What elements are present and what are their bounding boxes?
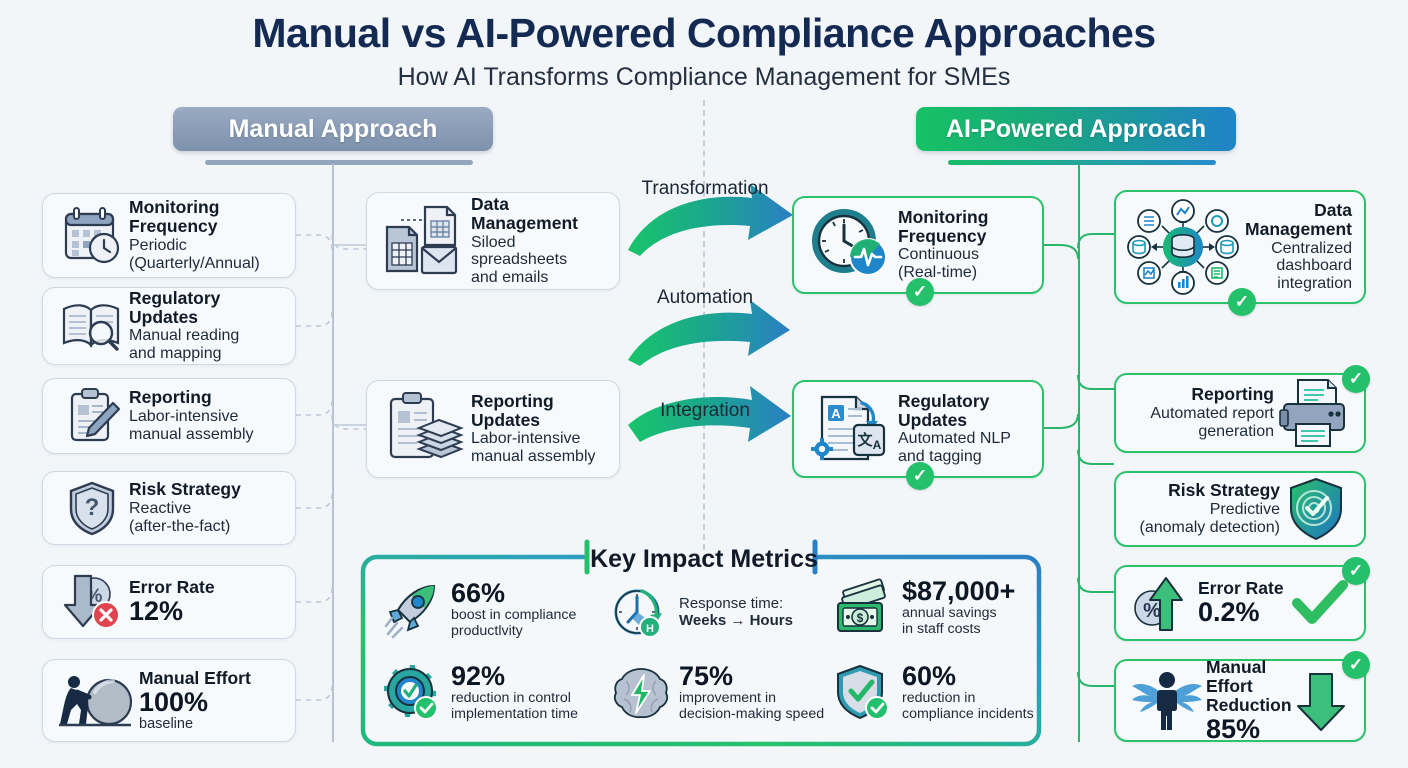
metric-label-top: Response time:	[679, 595, 793, 612]
document-translate-gear-icon: A 文 A	[806, 389, 898, 469]
metric-value: 60%	[902, 663, 1034, 690]
ai-card-manual-effort-reduction[interactable]: Manual Effort Reduction 85% ✓	[1114, 659, 1366, 742]
check-badge-icon: ✓	[906, 278, 934, 306]
up-arrow-percent-icon: %	[1128, 572, 1198, 634]
metric-compliance-incidents: 60% reduction in compliance incidents	[833, 663, 1048, 723]
metric-annual-savings: $ $87,000+ annual savings in staff costs	[833, 578, 1048, 638]
ai-card-error-rate[interactable]: % Error Rate 0.2% ✓	[1114, 565, 1366, 641]
ai-card-reporting[interactable]: Reporting Automated report generation ✓	[1114, 373, 1366, 453]
card-desc: Periodic (Quarterly/Annual)	[129, 237, 283, 273]
clipboard-pen-icon	[55, 387, 129, 445]
card-title: Regulatory Updates	[129, 289, 283, 327]
down-arrow-green-icon	[1290, 670, 1352, 732]
flow-label-automation: Automation	[630, 287, 780, 309]
banner-manual-approach: Manual Approach	[173, 107, 493, 151]
ai-mid-card-monitoring-frequency[interactable]: Monitoring Frequency Continuous (Real-ti…	[792, 196, 1044, 294]
spreadsheet-email-silo-icon	[379, 201, 471, 281]
shield-question-icon: ?	[55, 479, 129, 537]
check-badge-icon: ✓	[1228, 288, 1256, 316]
card-desc: Automated NLP and tagging	[898, 430, 1030, 466]
card-title: Data Management	[471, 195, 607, 233]
svg-text:?: ?	[85, 494, 100, 521]
manual-underline	[205, 160, 473, 165]
clock-pulse-icon	[806, 205, 898, 285]
printer-report-icon	[1274, 378, 1352, 448]
manual-card-reporting[interactable]: Reporting Labor-intensive manual assembl…	[42, 378, 296, 454]
metric-label: reduction in control implementation time	[451, 690, 578, 723]
page-subtitle: How AI Transforms Compliance Management …	[0, 63, 1408, 92]
card-title: Data Management	[1238, 201, 1352, 239]
page-title: Manual vs AI-Powered Compliance Approach…	[0, 10, 1408, 57]
shield-radar-icon	[1280, 476, 1352, 542]
flow-label-transformation: Transformation	[630, 178, 780, 200]
ai-mid-card-regulatory-updates[interactable]: A 文 A Regulatory Updates Automated NLP a…	[792, 380, 1044, 478]
metric-value: 75%	[679, 663, 824, 690]
check-badge-icon: ✓	[1342, 365, 1370, 393]
card-title: Reporting Updates	[471, 392, 607, 430]
card-value: 0.2%	[1198, 598, 1288, 626]
card-note: baseline	[139, 716, 283, 732]
card-desc: Reactive (after-the-fact)	[129, 500, 283, 536]
metric-control-implementation: 92% reduction in control implementation …	[382, 663, 597, 723]
card-desc: Centralized dashboard integration	[1238, 240, 1352, 294]
winged-person-icon	[1128, 668, 1206, 734]
shield-check-icon	[833, 664, 895, 722]
manual-card-manual-effort[interactable]: Manual Effort 100% baseline	[42, 659, 296, 742]
card-desc: Labor-intensive manual assembly	[471, 430, 607, 466]
manual-card-monitoring-frequency[interactable]: Monitoring Frequency Periodic (Quarterly…	[42, 193, 296, 278]
card-desc: Manual reading and mapping	[129, 327, 283, 363]
metric-response-time: H Response time: Weeks → Hours	[610, 585, 825, 639]
center-dashed-divider	[703, 100, 705, 550]
card-title: Risk Strategy	[1128, 481, 1280, 500]
metric-label: improvement in decision-making speed	[679, 690, 824, 723]
svg-text:A: A	[831, 406, 841, 421]
card-desc: Predictive (anomaly detection)	[1128, 501, 1280, 537]
card-desc: Automated report generation	[1128, 405, 1274, 441]
card-desc: Labor-intensive manual assembly	[129, 408, 283, 444]
banner-ai-approach: AI-Powered Approach	[916, 107, 1236, 151]
svg-text:%: %	[1143, 600, 1161, 622]
ai-card-data-management[interactable]: Data Management Centralized dashboard in…	[1114, 190, 1366, 304]
card-value: 100%	[139, 688, 283, 716]
manual-card-risk-strategy[interactable]: ? Risk Strategy Reactive (after-the-fact…	[42, 471, 296, 545]
card-value: 12%	[129, 597, 283, 625]
check-badge-icon: ✓	[906, 462, 934, 490]
database-hub-network-icon	[1128, 195, 1238, 299]
metric-label: reduction in compliance incidents	[902, 690, 1034, 723]
card-title: Risk Strategy	[129, 480, 283, 499]
metric-value: 66%	[451, 580, 576, 607]
infographic-canvas: Manual vs AI-Powered Compliance Approach…	[0, 0, 1408, 768]
metric-value: $87,000+	[902, 578, 1015, 605]
down-arrow-percent-error-icon: %	[55, 572, 129, 632]
ai-underline	[948, 160, 1216, 165]
card-title: Regulatory Updates	[898, 392, 1030, 430]
gear-check-icon	[382, 664, 444, 722]
manual-card-regulatory-updates[interactable]: Regulatory Updates Manual reading and ma…	[42, 287, 296, 365]
svg-text:文: 文	[857, 431, 873, 449]
metrics-title: Key Impact Metrics	[363, 545, 1045, 574]
brain-bolt-icon	[610, 665, 672, 721]
card-title: Monitoring Frequency	[898, 208, 1030, 246]
clipboard-paper-stack-icon	[379, 389, 471, 469]
card-desc: Continuous (Real-time)	[898, 246, 1030, 282]
big-green-check-icon	[1288, 579, 1352, 627]
ai-trunk-line	[1078, 164, 1080, 742]
card-title: Reporting	[129, 388, 283, 407]
card-title: Error Rate	[1198, 579, 1288, 598]
metric-value: 92%	[451, 663, 578, 690]
metric-label: annual savings in staff costs	[902, 605, 1015, 638]
calendar-clock-icon	[55, 205, 129, 267]
open-book-magnifier-icon	[55, 297, 129, 355]
clock-hours-icon: H	[610, 585, 672, 639]
svg-text:$: $	[857, 611, 864, 625]
manual-mid-card-data-management[interactable]: Data Management Siloed spreadsheets and …	[366, 192, 620, 290]
arrow-automation	[628, 300, 790, 366]
metric-compliance-productivity: 66% boost in compliance productlvity	[382, 580, 592, 640]
rocket-icon	[382, 582, 444, 638]
ai-card-risk-strategy[interactable]: Risk Strategy Predictive (anomaly detect…	[1114, 471, 1366, 547]
metric-decision-speed: 75% improvement in decision-making speed	[610, 663, 825, 723]
card-title: Monitoring Frequency	[129, 198, 283, 236]
svg-text:A: A	[873, 438, 882, 452]
check-badge-icon: ✓	[1342, 557, 1370, 585]
manual-mid-card-reporting-updates[interactable]: Reporting Updates Labor-intensive manual…	[366, 380, 620, 478]
svg-text:H: H	[646, 623, 654, 635]
card-title: Error Rate	[129, 578, 283, 597]
card-title: Manual Effort Reduction	[1206, 658, 1290, 715]
metric-label-bottom: Weeks → Hours	[679, 612, 793, 629]
check-badge-icon: ✓	[1342, 651, 1370, 679]
person-pushing-boulder-icon	[55, 670, 139, 732]
card-title: Reporting	[1128, 385, 1274, 404]
flow-label-integration: Integration	[630, 400, 780, 422]
cash-money-icon: $	[833, 579, 895, 637]
manual-trunk-line	[332, 164, 334, 742]
card-desc: Siloed spreadsheets and emails	[471, 234, 607, 288]
manual-card-error-rate[interactable]: % Error Rate 12%	[42, 565, 296, 639]
card-title: Manual Effort	[139, 669, 283, 688]
metric-label: boost in compliance productlvity	[451, 607, 576, 640]
card-value: 85%	[1206, 715, 1290, 743]
